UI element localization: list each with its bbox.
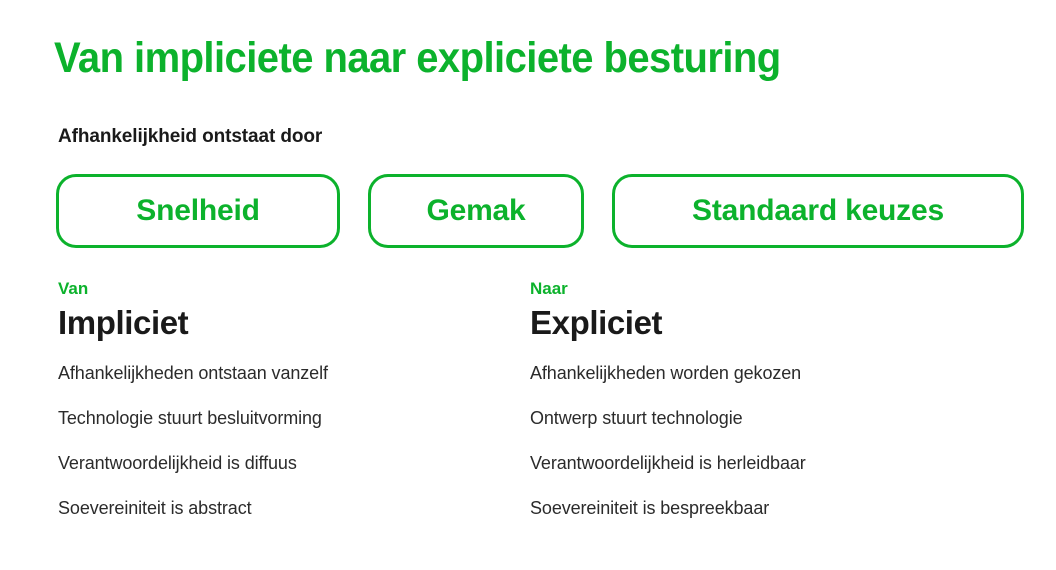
slide-canvas: Van impliciete naar expliciete besturing… <box>0 0 1056 570</box>
column-van: Van Impliciet Afhankelijkheden ontstaan … <box>58 278 518 541</box>
column-list: Afhankelijkheden worden gekozen Ontwerp … <box>530 361 1000 541</box>
pill-box-standaard-keuzes[interactable]: Standaard keuzes <box>612 174 1024 248</box>
page-title: Van impliciete naar expliciete besturing <box>54 32 781 84</box>
list-item: Ontwerp stuurt technologie <box>530 406 1000 451</box>
pill-row: Snelheid Gemak Standaard keuzes <box>0 174 1056 250</box>
list-item: Verantwoordelijkheid is herleidbaar <box>530 451 1000 496</box>
column-naar: Naar Expliciet Afhankelijkheden worden g… <box>530 278 1000 541</box>
column-heading: Impliciet <box>58 302 518 344</box>
column-heading: Expliciet <box>530 302 1000 344</box>
list-item: Soevereiniteit is bespreekbaar <box>530 496 1000 541</box>
pill-box-gemak[interactable]: Gemak <box>368 174 584 248</box>
list-item: Afhankelijkheden worden gekozen <box>530 361 1000 406</box>
pill-box-snelheid[interactable]: Snelheid <box>56 174 340 248</box>
section-subheading: Afhankelijkheid ontstaat door <box>58 125 322 149</box>
list-item: Technologie stuurt besluitvorming <box>58 406 518 451</box>
list-item: Afhankelijkheden ontstaan vanzelf <box>58 361 518 406</box>
pill-label: Standaard keuzes <box>692 194 944 228</box>
list-item: Verantwoordelijkheid is diffuus <box>58 451 518 496</box>
list-item: Soevereiniteit is abstract <box>58 496 518 541</box>
column-eyebrow: Naar <box>530 278 1000 300</box>
column-eyebrow: Van <box>58 278 518 300</box>
column-list: Afhankelijkheden ontstaan vanzelf Techno… <box>58 361 518 541</box>
pill-label: Snelheid <box>136 194 259 228</box>
pill-label: Gemak <box>426 194 525 228</box>
